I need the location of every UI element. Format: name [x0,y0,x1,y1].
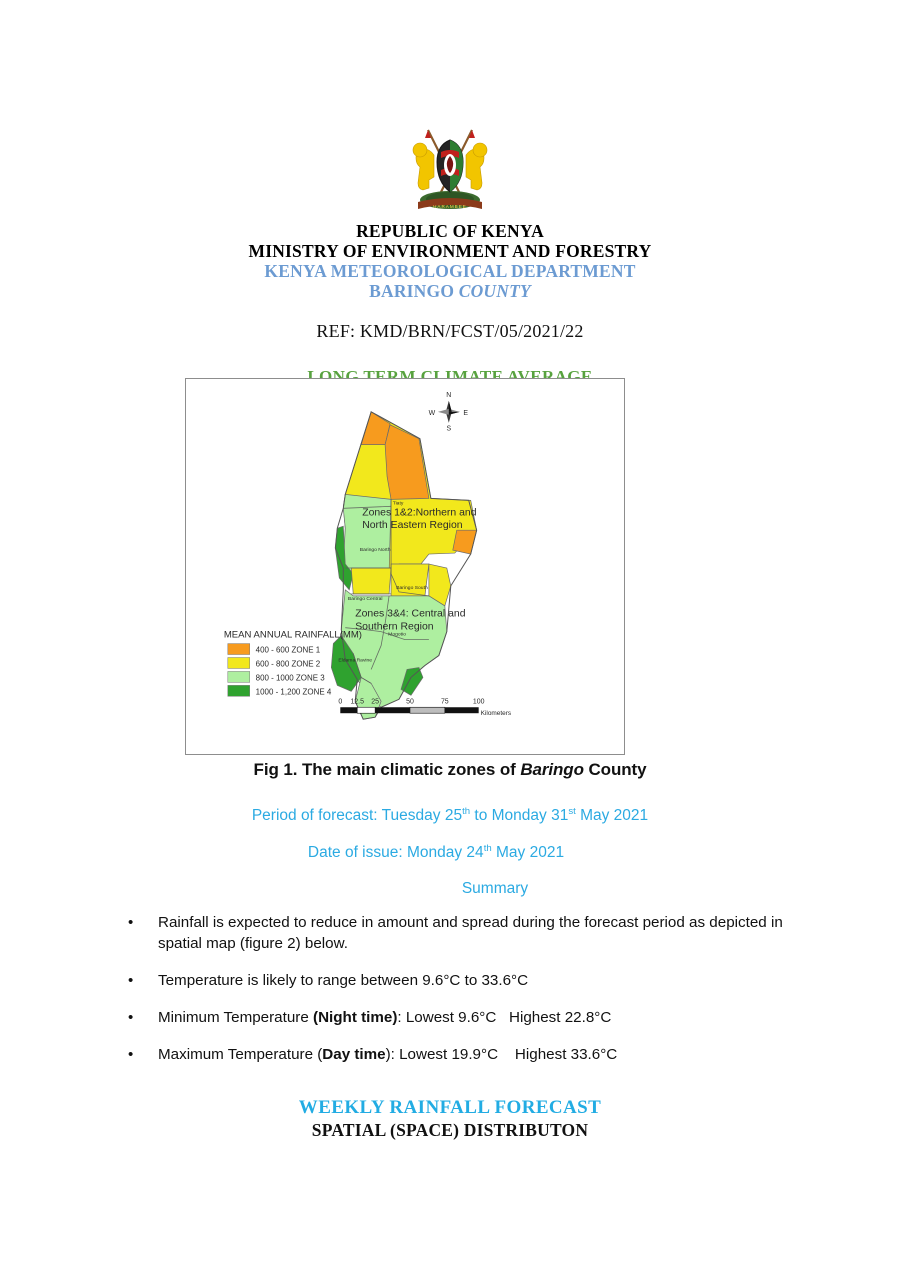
forecast-meta: Period of forecast: Tuesday 25th to Mond… [0,806,900,898]
forecast-period: Period of forecast: Tuesday 25th to Mond… [0,806,900,825]
svg-text:100: 100 [473,698,485,705]
bullet-marker: • [128,1044,158,1065]
issue-suffix: May 2021 [492,844,564,861]
bullet-marker: • [128,970,158,991]
svg-text:Tiaty: Tiaty [393,500,404,506]
bullet-part: ): Lowest 19.9°C Highest 33.6°C [386,1046,618,1063]
svg-text:Eldama Ravine: Eldama Ravine [338,657,372,663]
bullet-part-bold: Day time [322,1046,385,1063]
date-of-issue: Date of issue: Monday 24th May 2021 [0,843,900,862]
svg-text:25: 25 [371,698,379,705]
svg-text:E: E [463,410,468,417]
caption-suffix: County [584,760,647,779]
svg-text:75: 75 [441,698,449,705]
svg-text:Mogotio: Mogotio [388,632,406,638]
caption-prefix: Fig 1. The main climatic zones of [254,760,521,779]
period-prefix: Period of forecast: Tuesday 25 [252,807,462,824]
svg-text:400 - 600 ZONE 1: 400 - 600 ZONE 1 [256,646,321,655]
svg-text:W: W [429,410,436,417]
bullet-text: Temperature is likely to range between 9… [158,970,808,991]
republic-title: REPUBLIC OF KENYA [0,221,900,241]
svg-text:50: 50 [406,698,414,705]
list-item: • Minimum Temperature (Night time): Lowe… [128,1007,808,1028]
bullet-marker: • [128,1007,158,1028]
bullet-part: Minimum Temperature [158,1009,313,1026]
spatial-distribution-subtitle: SPATIAL (SPACE) DISTRIBUTON [0,1119,900,1142]
county-name: BARINGO [369,281,454,301]
svg-text:12.5: 12.5 [350,698,364,705]
compass-rose-icon: N S E W [429,392,469,433]
figure-caption: Fig 1. The main climatic zones of Baring… [0,760,900,780]
svg-text:1000 - 1,200 ZONE 4: 1000 - 1,200 ZONE 4 [256,687,332,696]
svg-text:N: N [446,392,451,399]
list-item: • Rainfall is expected to reduce in amou… [128,912,808,954]
weekly-rainfall-forecast-title: WEEKLY RAINFALL FORECAST [0,1096,900,1119]
bullet-marker: • [128,912,158,933]
svg-text:Baringo North: Baringo North [360,547,391,553]
bullet-part: Maximum Temperature ( [158,1046,322,1063]
bullet-part-bold: (Night time) [313,1009,397,1026]
summary-heading: Summary [0,880,900,898]
kenya-coat-of-arms-icon: HARAMBEE [400,122,500,217]
caption-italic-word: Baringo [520,760,584,779]
emblem-container: HARAMBEE [0,0,900,217]
svg-text:Zones 3&4: Central and: Zones 3&4: Central and [355,609,465,620]
svg-text:Zones 1&2:Northern and: Zones 1&2:Northern and [362,507,477,518]
svg-text:S: S [446,426,451,433]
period-ordinal-2: st [568,806,575,817]
svg-text:Baringo Central: Baringo Central [348,596,383,602]
svg-text:Southern Region: Southern Region [355,622,434,633]
svg-text:600 - 800 ZONE 2: 600 - 800 ZONE 2 [256,659,321,668]
bullet-part: : Lowest 9.6°C Highest 22.8°C [397,1009,611,1026]
svg-text:800 - 1000 ZONE 3: 800 - 1000 ZONE 3 [256,673,326,682]
climate-zone-map-figure: N S E W Zones 1&2:Northern and North Eas… [185,378,625,755]
period-middle: to Monday 31 [470,807,568,824]
department-title: KENYA METEOROLOGICAL DEPARTMENT [0,261,900,281]
bullet-text: Minimum Temperature (Night time): Lowest… [158,1007,808,1028]
forecast-footer: WEEKLY RAINFALL FORECAST SPATIAL (SPACE)… [0,1096,900,1142]
svg-text:Kilometers: Kilometers [481,710,511,717]
bullet-part: Rainfall is expected to reduce in amount… [158,914,783,952]
period-suffix: May 2021 [576,807,648,824]
county-title: BARINGO COUNTY [0,281,900,301]
issue-ordinal: th [484,843,492,854]
county-word: COUNTY [459,281,531,301]
period-ordinal-1: th [462,806,470,817]
issue-prefix: Date of issue: Monday 24 [308,844,484,861]
svg-text:MEAN ANNUAL RAINFALL(MM): MEAN ANNUAL RAINFALL(MM) [224,630,362,641]
organisation-titles: REPUBLIC OF KENYA MINISTRY OF ENVIRONMEN… [0,221,900,301]
reference-number: REF: KMD/BRN/FCST/05/2021/22 [0,321,900,342]
svg-text:Baringo South: Baringo South [396,585,428,591]
baringo-county-map: N S E W Zones 1&2:Northern and North Eas… [186,379,624,754]
list-item: • Maximum Temperature (Day time): Lowest… [128,1044,808,1065]
summary-bullet-list: • Rainfall is expected to reduce in amou… [128,912,808,1081]
bullet-text: Maximum Temperature (Day time): Lowest 1… [158,1044,808,1065]
svg-text:HARAMBEE: HARAMBEE [433,204,467,209]
bullet-part: Temperature is likely to range between 9… [158,972,528,989]
list-item: • Temperature is likely to range between… [128,970,808,991]
ministry-title: MINISTRY OF ENVIRONMENT AND FORESTRY [0,241,900,261]
bullet-text: Rainfall is expected to reduce in amount… [158,912,808,954]
svg-text:0: 0 [338,698,342,705]
svg-text:North Eastern Region: North Eastern Region [362,520,463,531]
